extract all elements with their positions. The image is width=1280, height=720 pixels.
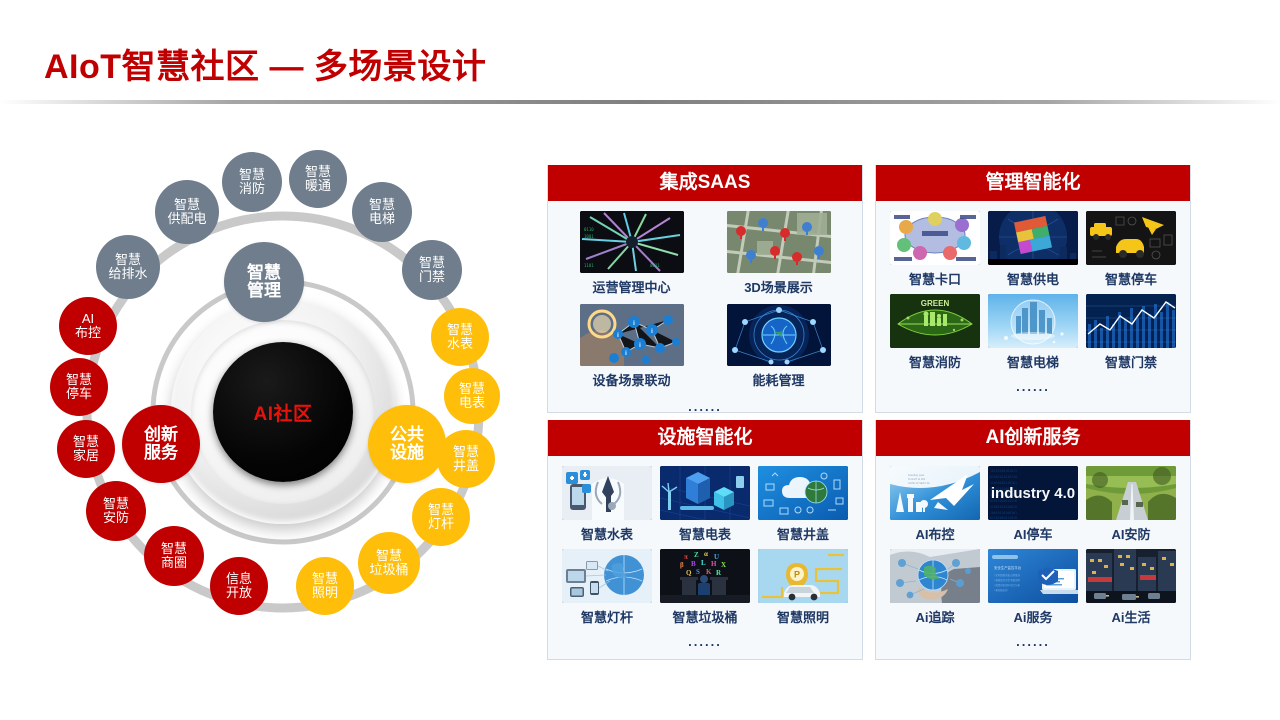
svg-text:• 隐患排查闭环 统计分析: • 隐患排查闭环 统计分析 <box>994 583 1021 587</box>
node-smart-business-district[interactable]: 智慧 商圈 <box>144 526 204 586</box>
svg-text:• 实时数据采集 远程联动: • 实时数据采集 远程联动 <box>994 573 1021 577</box>
node-label-line2: 门禁 <box>419 270 445 284</box>
fiber-optic-cables-image: 01101001 11010011 <box>580 211 684 273</box>
panel-title: 设施智能化 <box>548 420 862 456</box>
tile-smart-checkpoint[interactable]: 智慧卡口 <box>886 211 984 288</box>
svg-text:GREEN: GREEN <box>921 299 950 308</box>
panel-management-intelligence: 管理智能化 <box>875 165 1191 413</box>
node-label-line2: 电梯 <box>369 212 395 226</box>
tile-smart-manhole-cover[interactable]: 智慧井盖 <box>754 466 852 543</box>
node-smart-water-supply-drainage[interactable]: 智慧 给排水 <box>96 235 160 299</box>
tile-grid: 智慧卡口 <box>886 211 1180 377</box>
panel-facility-intelligence: 设施智能化 <box>547 420 863 660</box>
node-label-line1: 智慧 <box>376 549 402 563</box>
svg-text:boarding pass: boarding pass <box>908 473 925 477</box>
svg-text:H: H <box>711 560 717 568</box>
node-label-line2: 井盖 <box>453 459 479 473</box>
hand-globe-network-image <box>890 549 980 603</box>
doctor-phone-health-image <box>562 466 652 520</box>
tile-device-scene-linkage[interactable]: iii ii 设备场景联动 <box>558 304 705 389</box>
svg-text:B: B <box>691 560 696 568</box>
iot-network-touch-image: iii ii <box>580 304 684 366</box>
node-label-line1: 智慧 <box>428 503 454 517</box>
node-smart-lighting[interactable]: 智慧 照明 <box>296 557 354 615</box>
node-label-line1: 智慧 <box>369 198 395 212</box>
node-label-line2: 停车 <box>66 387 92 401</box>
node-label-line1: 智慧 <box>239 168 265 182</box>
svg-text:π: π <box>684 553 688 561</box>
svg-text:安全生产监控平台: 安全生产监控平台 <box>994 565 1022 570</box>
svg-text:β: β <box>680 561 684 569</box>
slide-root: AIoT智慧社区 — 多场景设计 AI社区 智慧 管理 公共 设施 创新 服务 <box>0 0 1280 720</box>
panel-body: 01101001 11010011 运营管理中心 <box>548 201 862 418</box>
node-label-line2: 开放 <box>226 586 252 600</box>
node-label-line2: 照明 <box>312 586 338 600</box>
node-smart-elevator[interactable]: 智慧 电梯 <box>352 182 412 242</box>
svg-text:L: L <box>701 559 706 567</box>
isometric-smart-grid-image <box>660 466 750 520</box>
tile-smart-lamp-pole[interactable]: 智慧灯杆 <box>558 549 656 626</box>
tile-ai-deployment[interactable]: boarding passFLIGHT AI 001 GATE 12 SEAT … <box>886 466 984 543</box>
tile-label: 智慧电梯 <box>984 352 1082 371</box>
industry-four-zero-image: 1011010010101101001011010110 11010010110… <box>988 466 1078 520</box>
node-label-line1: 智慧 <box>312 572 338 586</box>
node-information-opening[interactable]: 信息 开放 <box>210 557 268 615</box>
node-label-line1: 智慧 <box>73 435 99 449</box>
tile-smart-parking[interactable]: 智慧停车 <box>1082 211 1180 288</box>
node-label-line2: 灯杆 <box>428 517 454 531</box>
tile-smart-power-supply[interactable]: 智慧供电 <box>984 211 1082 288</box>
aiot-circular-diagram: AI社区 智慧 管理 公共 设施 创新 服务 智慧 消防 智慧 暖通 智慧 供配… <box>28 140 538 680</box>
panel-ai-innovation-service: AI创新服务 <box>875 420 1191 660</box>
tile-label: 智慧门禁 <box>1082 352 1180 371</box>
city-street-night-image <box>1086 549 1176 603</box>
node-label-line2: 电表 <box>459 396 485 410</box>
node-label-line1: AI <box>82 312 94 326</box>
cloud-globe-devices-image <box>758 466 848 520</box>
data-cube-city-image <box>988 211 1078 265</box>
svg-text:• 移动端支持: • 移动端支持 <box>994 588 1008 592</box>
tile-label: AI布控 <box>886 524 984 543</box>
node-ai-deployment[interactable]: AI 布控 <box>59 297 117 355</box>
node-smart-access-control[interactable]: 智慧 门禁 <box>402 240 462 300</box>
svg-text:Z: Z <box>694 551 699 559</box>
node-smart-electric-meter[interactable]: 智慧 电表 <box>444 368 500 424</box>
svg-text:1101: 1101 <box>584 263 594 268</box>
tile-label: 智慧卡口 <box>886 269 984 288</box>
tile-label: AI安防 <box>1082 524 1180 543</box>
hub-label-line2: 设施 <box>390 444 424 462</box>
node-smart-fire-control[interactable]: 智慧 消防 <box>222 152 282 212</box>
tile-label: 3D场景展示 <box>705 277 852 296</box>
green-leaf-eco-image: GREEN <box>890 294 980 348</box>
blue-data-waveform-image <box>1086 294 1176 348</box>
node-label-line1: 智慧 <box>419 256 445 270</box>
panel-body: 智慧卡口 <box>876 201 1190 398</box>
tile-smart-trash-bin[interactable]: πZ αU βB LH XQ SK R <box>656 549 754 626</box>
tile-ai-service[interactable]: 安全生产监控平台 • 实时数据采集 远程联动 • 视频监控告警 智能诊断 • 隐… <box>984 549 1082 626</box>
node-label-line1: 智慧 <box>447 323 473 337</box>
laptop-shield-platform-image: 安全生产监控平台 • 实时数据采集 远程联动 • 视频监控告警 智能诊断 • 隐… <box>988 549 1078 603</box>
node-smart-power-distribution[interactable]: 智慧 供配电 <box>155 180 219 244</box>
tile-ai-parking[interactable]: 1011010010101101001011010110 11010010110… <box>984 466 1082 543</box>
tile-label: 能耗管理 <box>705 370 852 389</box>
svg-text:α: α <box>704 550 708 558</box>
svg-text:GATE 12 SEAT 4A: GATE 12 SEAT 4A <box>908 481 930 485</box>
svg-text:0011: 0011 <box>650 263 660 268</box>
svg-text:K: K <box>706 568 712 576</box>
node-smart-hvac[interactable]: 智慧 暖通 <box>289 150 347 208</box>
tile-label: 智慧照明 <box>754 607 852 626</box>
svg-text:1001: 1001 <box>584 234 594 239</box>
parking-car-pin-image: P <box>758 549 848 603</box>
node-label-line1: 智慧 <box>453 445 479 459</box>
node-label-line2: 供配电 <box>167 212 206 226</box>
node-smart-water-meter[interactable]: 智慧 水表 <box>431 308 489 366</box>
tile-label: 智慧消防 <box>886 352 984 371</box>
node-label-line2: 消防 <box>239 182 265 196</box>
tile-label: 智慧水表 <box>558 524 656 543</box>
green-tunnel-road-image <box>1086 466 1176 520</box>
tile-operation-management-center[interactable]: 01101001 11010011 运营管理中心 <box>558 211 705 296</box>
title-divider <box>0 100 1280 104</box>
tile-label: 智慧供电 <box>984 269 1082 288</box>
tile-label: 运营管理中心 <box>558 277 705 296</box>
node-label-line2: 家居 <box>73 449 99 463</box>
tile-grid: 01101001 11010011 运营管理中心 <box>558 211 852 397</box>
panel-title: 集成SAAS <box>548 165 862 201</box>
panel-ellipsis: ...... <box>886 379 1180 394</box>
node-smart-lamp-pole[interactable]: 智慧 灯杆 <box>412 488 470 546</box>
blue-city-bubble-image <box>988 294 1078 348</box>
svg-text:P: P <box>794 570 800 580</box>
node-label-line2: 水表 <box>447 337 473 351</box>
tile-smart-access-control[interactable]: 智慧门禁 <box>1082 294 1180 371</box>
3d-map-scene-image <box>727 211 831 273</box>
svg-text:• 视频监控告警 智能诊断: • 视频监控告警 智能诊断 <box>994 578 1021 582</box>
tile-smart-elevator[interactable]: 智慧电梯 <box>984 294 1082 371</box>
hub-label-line1: 智慧 <box>247 264 281 282</box>
node-label-line1: 智慧 <box>66 373 92 387</box>
svg-text:Q: Q <box>686 569 692 577</box>
blue-globe-network-image <box>727 304 831 366</box>
center-core: AI社区 <box>213 342 353 482</box>
tile-grid: 智慧水表 <box>558 466 852 632</box>
node-smart-manhole-cover[interactable]: 智慧 井盖 <box>437 430 495 488</box>
node-label-line2: 给排水 <box>108 267 147 281</box>
node-label-line2: 垃圾桶 <box>369 563 408 577</box>
tile-smart-lighting[interactable]: P 智慧照明 <box>754 549 852 626</box>
tile-label: 智慧灯杆 <box>558 607 656 626</box>
tile-smart-fire-control[interactable]: GREEN 智慧消防 <box>886 294 984 371</box>
panel-integrated-saas: 集成SAAS <box>547 165 863 413</box>
node-label-line2: 暖通 <box>305 179 331 193</box>
devices-globe-blue-image <box>562 549 652 603</box>
node-smart-home[interactable]: 智慧 家居 <box>57 420 115 478</box>
center-label: AI社区 <box>253 399 312 426</box>
panel-ellipsis: ...... <box>886 634 1180 649</box>
panel-body: 智慧水表 <box>548 456 862 653</box>
node-label-line1: 信息 <box>226 572 252 586</box>
hub-node-public-facility[interactable]: 公共 设施 <box>368 405 446 483</box>
node-label-line2: 商圈 <box>161 556 187 570</box>
node-smart-parking[interactable]: 智慧 停车 <box>50 358 108 416</box>
panel-ellipsis: ...... <box>558 399 852 414</box>
hub-label-line2: 服务 <box>144 444 178 462</box>
tile-label: Ai服务 <box>984 607 1082 626</box>
node-label-line1: 智慧 <box>305 165 331 179</box>
tile-ai-security[interactable]: AI安防 <box>1082 466 1180 543</box>
platform-bubbles-diagram-image <box>890 211 980 265</box>
svg-text:industry 4.0: industry 4.0 <box>991 485 1075 502</box>
tile-label: 智慧井盖 <box>754 524 852 543</box>
node-smart-trash-bin[interactable]: 智慧 垃圾桶 <box>358 532 420 594</box>
panel-body: boarding passFLIGHT AI 001 GATE 12 SEAT … <box>876 456 1190 653</box>
airplane-travel-blue-image: boarding passFLIGHT AI 001 GATE 12 SEAT … <box>890 466 980 520</box>
tile-label: 智慧垃圾桶 <box>656 607 754 626</box>
node-label-line2: 布控 <box>75 326 101 340</box>
tile-label: Ai追踪 <box>886 607 984 626</box>
tile-label: 智慧电表 <box>656 524 754 543</box>
panel-ellipsis: ...... <box>558 634 852 649</box>
hub-label-line1: 创新 <box>144 426 178 444</box>
svg-text:0110: 0110 <box>584 227 594 232</box>
tile-grid: boarding passFLIGHT AI 001 GATE 12 SEAT … <box>886 466 1180 632</box>
node-label-line2: 安防 <box>103 511 129 525</box>
tile-label: 设备场景联动 <box>558 370 705 389</box>
hub-node-smart-management[interactable]: 智慧 管理 <box>224 242 304 322</box>
node-smart-security[interactable]: 智慧 安防 <box>86 481 146 541</box>
hub-node-innovation-service[interactable]: 创新 服务 <box>122 405 200 483</box>
node-label-line1: 智慧 <box>115 253 141 267</box>
tile-label: AI停车 <box>984 524 1082 543</box>
tile-ai-life[interactable]: Ai生活 <box>1082 549 1180 626</box>
tile-smart-electric-meter[interactable]: 智慧电表 <box>656 466 754 543</box>
colorful-letters-desk-image: πZ αU βB LH XQ SK R <box>660 549 750 603</box>
panel-title: 管理智能化 <box>876 165 1190 201</box>
yellow-vehicles-dark-image <box>1086 211 1176 265</box>
tile-energy-management[interactable]: 能耗管理 <box>705 304 852 389</box>
svg-text:S: S <box>696 568 700 576</box>
node-label-line1: 智慧 <box>161 542 187 556</box>
node-label-line1: 智慧 <box>103 497 129 511</box>
node-label-line1: 智慧 <box>459 382 485 396</box>
svg-text:FLIGHT AI 001: FLIGHT AI 001 <box>908 477 926 481</box>
tile-smart-water-meter[interactable]: 智慧水表 <box>558 466 656 543</box>
hub-label-line2: 管理 <box>247 282 281 300</box>
hub-label-line1: 公共 <box>390 426 424 444</box>
tile-3d-scene-display[interactable]: 3D场景展示 <box>705 211 852 296</box>
tile-label: Ai生活 <box>1082 607 1180 626</box>
tile-label: 智慧停车 <box>1082 269 1180 288</box>
tile-ai-tracking[interactable]: Ai追踪 <box>886 549 984 626</box>
node-label-line1: 智慧 <box>174 198 200 212</box>
svg-text:X: X <box>721 561 726 569</box>
page-title: AIoT智慧社区 — 多场景设计 <box>44 39 486 88</box>
panel-title: AI创新服务 <box>876 420 1190 456</box>
